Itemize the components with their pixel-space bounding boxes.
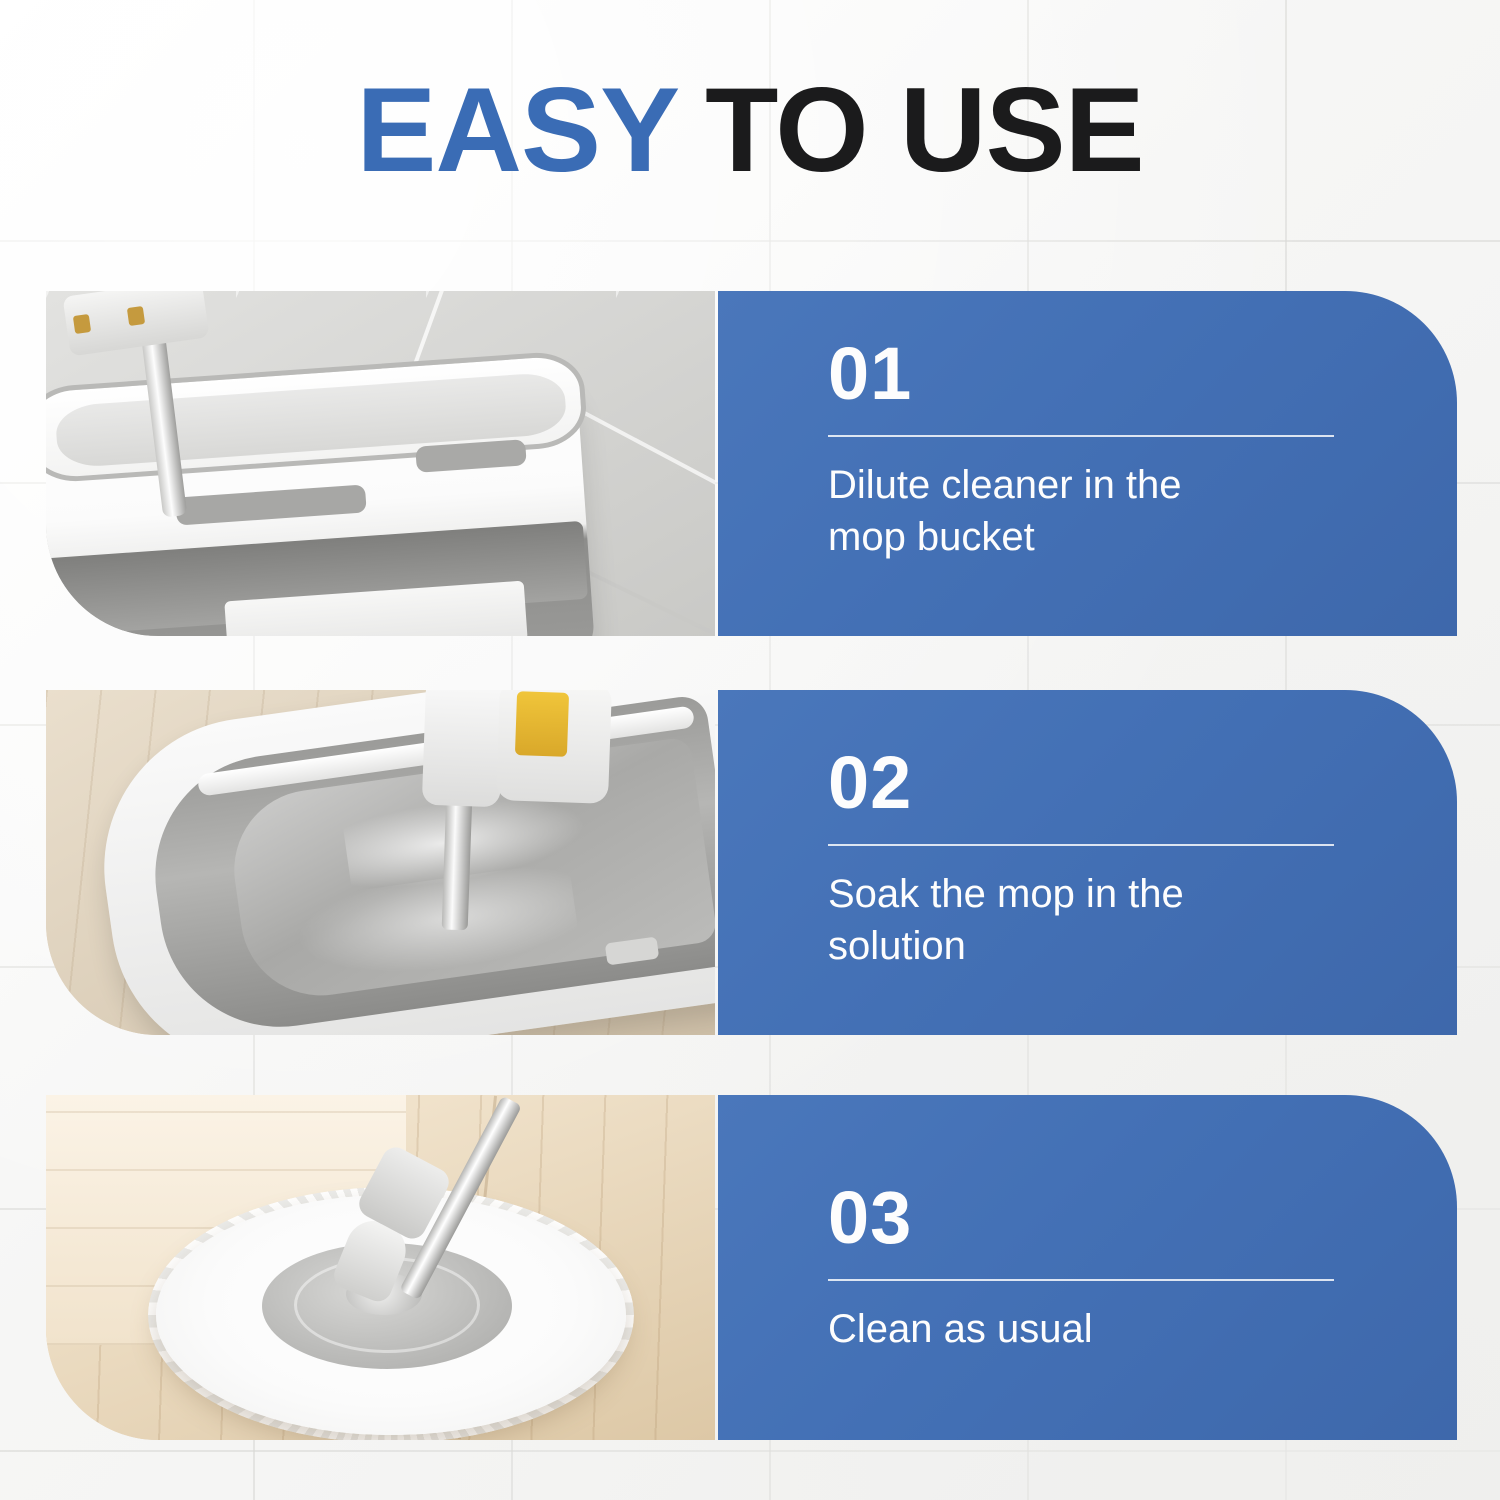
mop-clip-left [73, 314, 91, 334]
step-1-divider [828, 435, 1334, 437]
step-2-panel: 02 Soak the mop in the solution [718, 690, 1457, 1035]
step-2-number: 02 [828, 746, 1457, 820]
step-1-panel: 01 Dilute cleaner in the mop bucket [718, 291, 1457, 636]
step-3-description: Clean as usual [828, 1303, 1358, 1355]
mop-lever-yellow-accent [515, 691, 569, 757]
infographic-canvas: EASYTO USE 01 Dilute cleaner in the mop … [0, 0, 1500, 1500]
step-row-3: 03 Clean as usual [46, 1095, 1457, 1440]
page-title: EASYTO USE [0, 70, 1500, 190]
step-3-divider [828, 1279, 1334, 1281]
step-2-photo [46, 690, 715, 1035]
step-2-divider [828, 844, 1334, 846]
step-1-description: Dilute cleaner in the mop bucket [828, 459, 1358, 563]
step-2-description: Soak the mop in the solution [828, 868, 1358, 972]
mop-collar [422, 690, 504, 807]
mop-clip-right [127, 306, 145, 326]
step-1-photo [46, 291, 715, 636]
title-accent-word: EASY [356, 63, 679, 197]
step-1-number: 01 [828, 337, 1457, 411]
step-row-2: 02 Soak the mop in the solution [46, 690, 1457, 1035]
step-3-number: 03 [828, 1181, 1457, 1255]
title-rest: TO USE [705, 63, 1144, 197]
step-row-1: 01 Dilute cleaner in the mop bucket [46, 291, 1457, 636]
step-3-photo [46, 1095, 715, 1440]
step-3-panel: 03 Clean as usual [718, 1095, 1457, 1440]
